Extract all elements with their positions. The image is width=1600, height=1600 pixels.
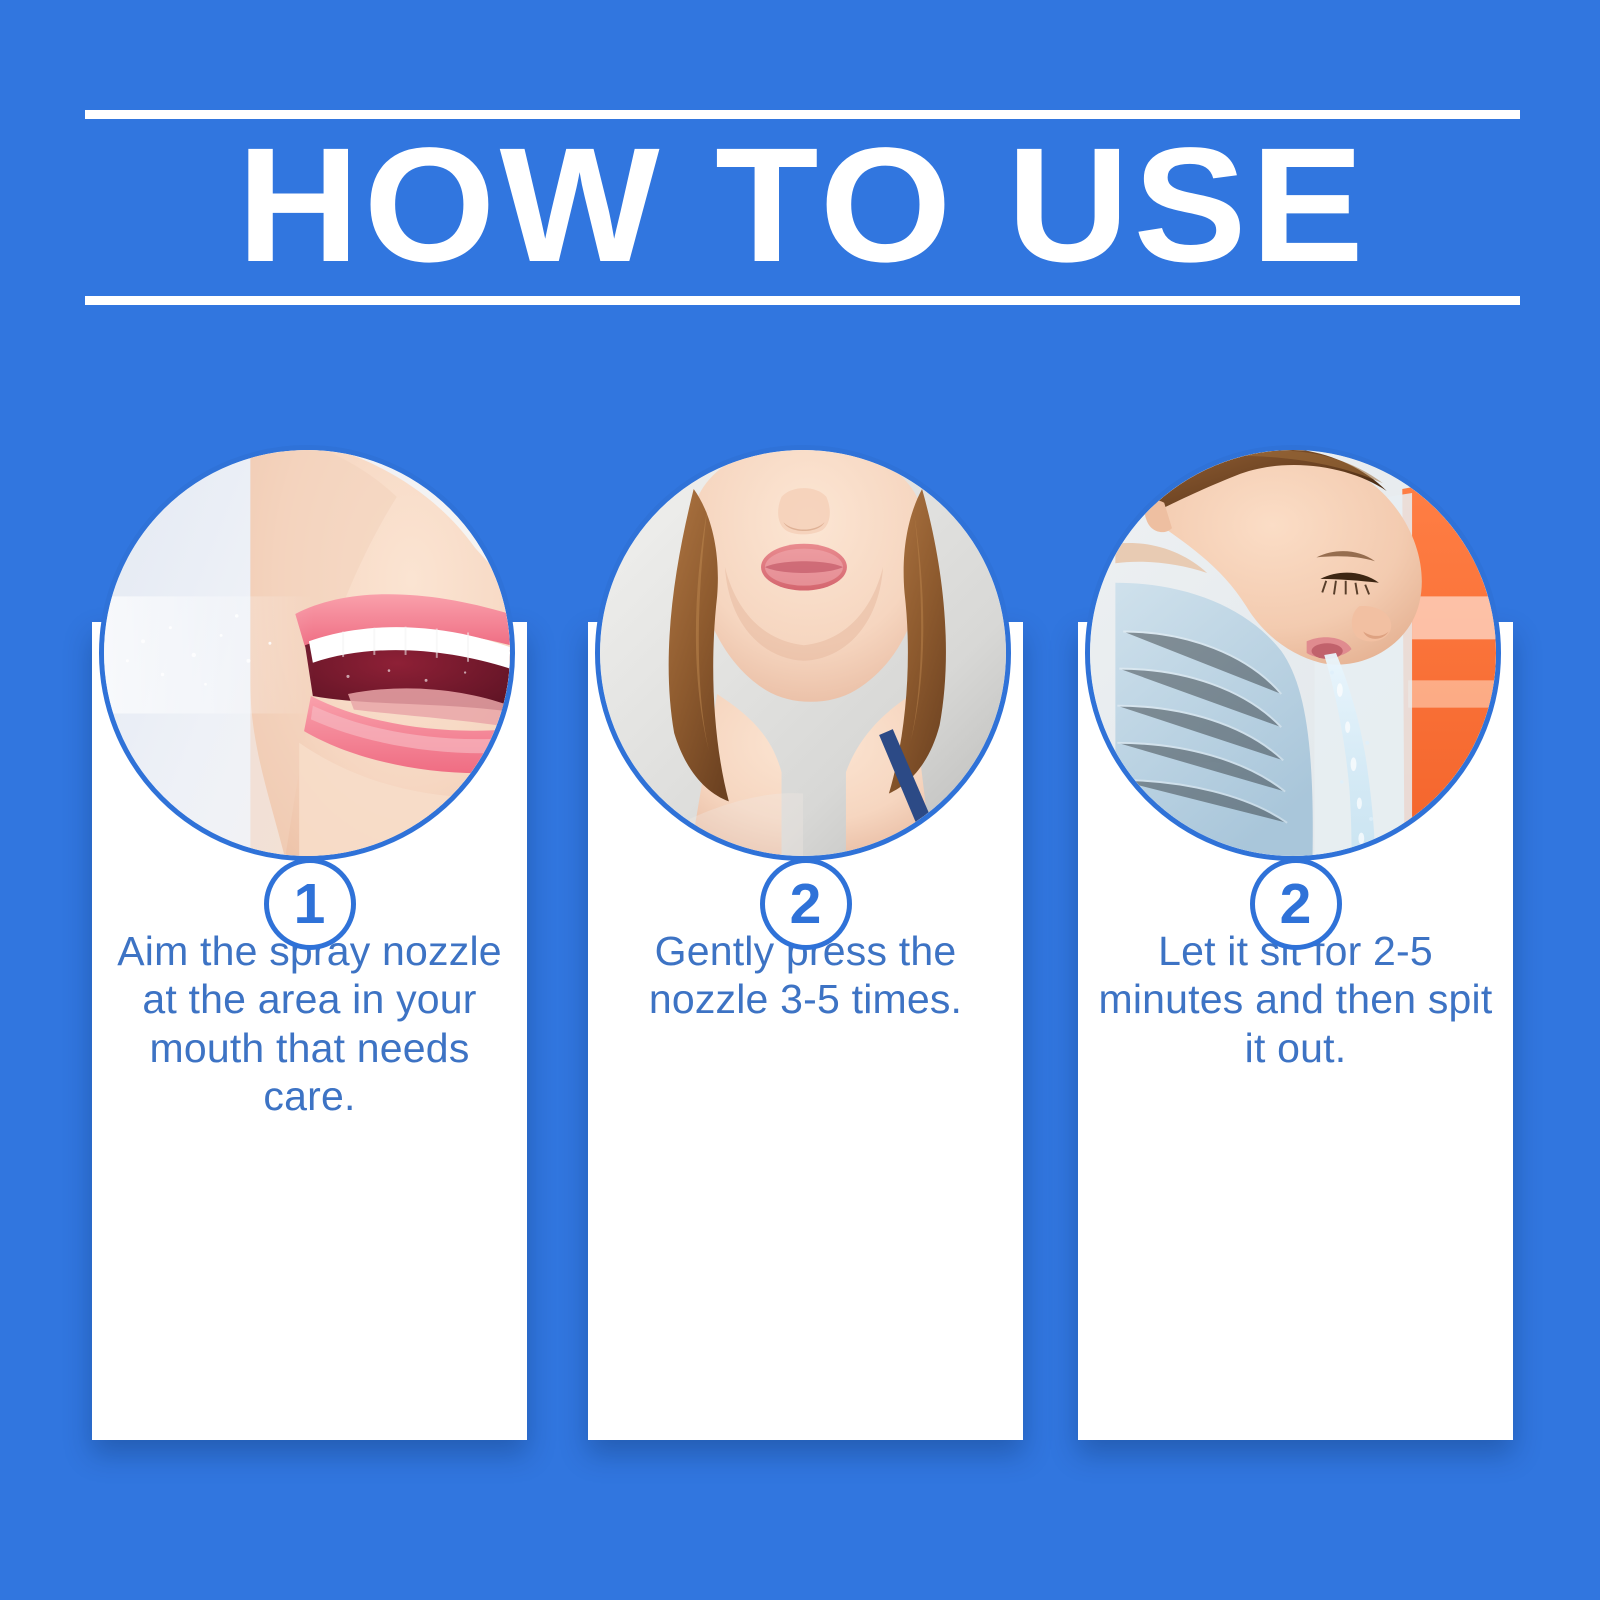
step-number-badge-2: 2 — [760, 858, 852, 950]
woman-spitting-water-photo — [1090, 450, 1496, 856]
step-number-badge-3: 2 — [1250, 858, 1342, 950]
steps-row: 1 Aim the spray nozzle at the area in yo… — [0, 0, 1600, 1600]
step-2-photo-circle — [595, 445, 1011, 861]
how-to-use-infographic: HOW TO USE — [0, 0, 1600, 1600]
step-card-2: 2 Gently press the nozzle 3-5 times. — [588, 622, 1023, 1440]
step-description-1: Aim the spray nozzle at the area in your… — [110, 927, 509, 1121]
step-card-3: 2 Let it sit for 2-5 minutes and then sp… — [1078, 622, 1513, 1440]
open-mouth-spray-photo — [104, 450, 510, 856]
woman-swishing-photo — [600, 450, 1006, 856]
step-3-photo-circle — [1085, 445, 1501, 861]
step-1-photo-circle — [99, 445, 515, 861]
step-number-badge-1: 1 — [264, 858, 356, 950]
step-card-1: 1 Aim the spray nozzle at the area in yo… — [92, 622, 527, 1440]
